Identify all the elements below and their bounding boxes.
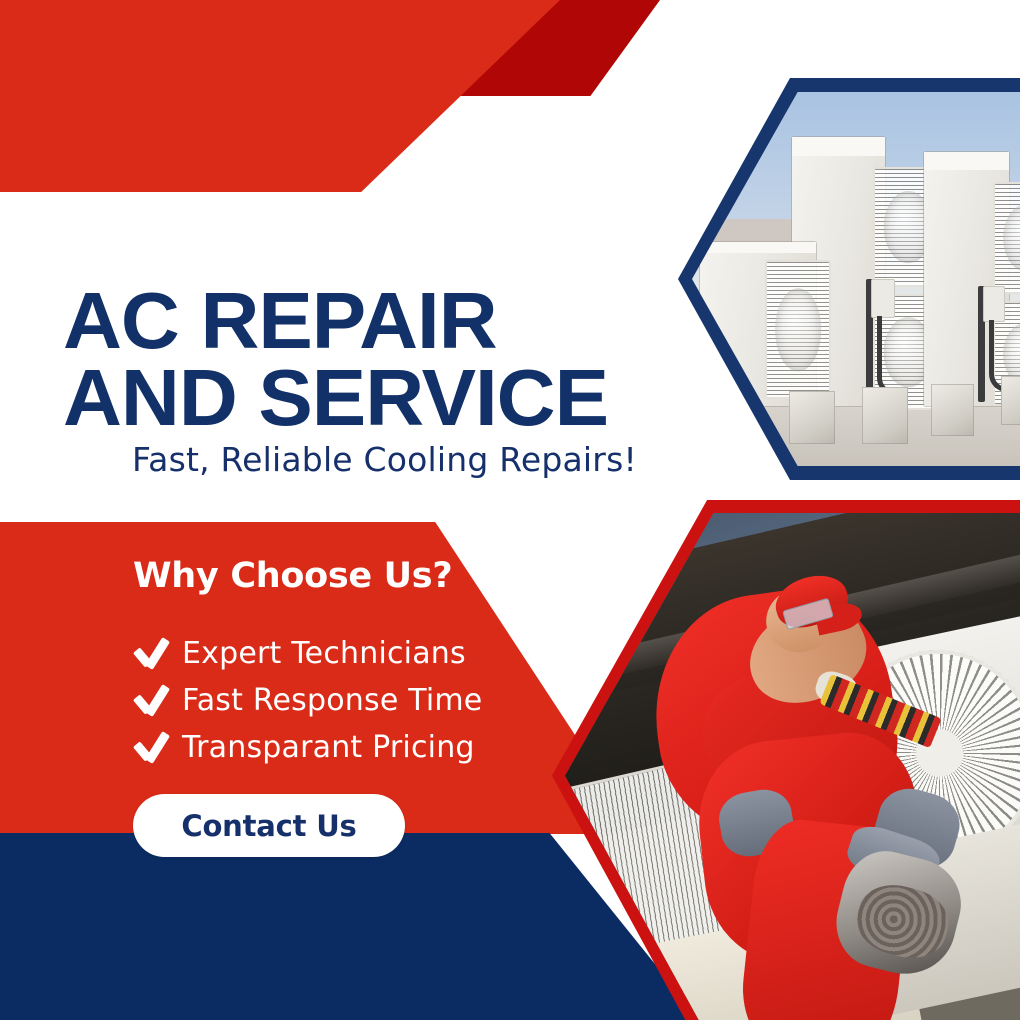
benefits-list: Expert Technicians Fast Response Time Tr… — [130, 630, 482, 771]
headline-line-2: AND SERVICE — [63, 359, 695, 437]
list-item: Transparant Pricing — [130, 724, 482, 771]
rooftop-ac-condenser-units-photo — [692, 92, 1020, 466]
benefit-label: Fast Response Time — [182, 683, 482, 718]
ac-repair-poster: AC REPAIR AND SERVICE Fast, Reliable Coo… — [0, 0, 1020, 1020]
hex-frame-top — [678, 78, 1020, 480]
headline-line-1: AC REPAIR — [63, 276, 497, 365]
top-red-shape — [0, 0, 560, 192]
subheadline: Fast, Reliable Cooling Repairs! — [132, 440, 637, 479]
check-icon — [130, 686, 172, 716]
benefit-label: Expert Technicians — [182, 636, 466, 671]
section-title-why-choose-us: Why Choose Us? — [133, 556, 452, 596]
benefit-label: Transparant Pricing — [182, 730, 475, 765]
check-icon — [130, 639, 172, 669]
bottom-navy-band — [0, 833, 700, 1020]
contact-us-button[interactable]: Contact Us — [133, 794, 405, 857]
page-title: AC REPAIR AND SERVICE — [63, 282, 695, 437]
check-icon — [130, 733, 172, 763]
list-item: Expert Technicians — [130, 630, 482, 677]
list-item: Fast Response Time — [130, 677, 482, 724]
